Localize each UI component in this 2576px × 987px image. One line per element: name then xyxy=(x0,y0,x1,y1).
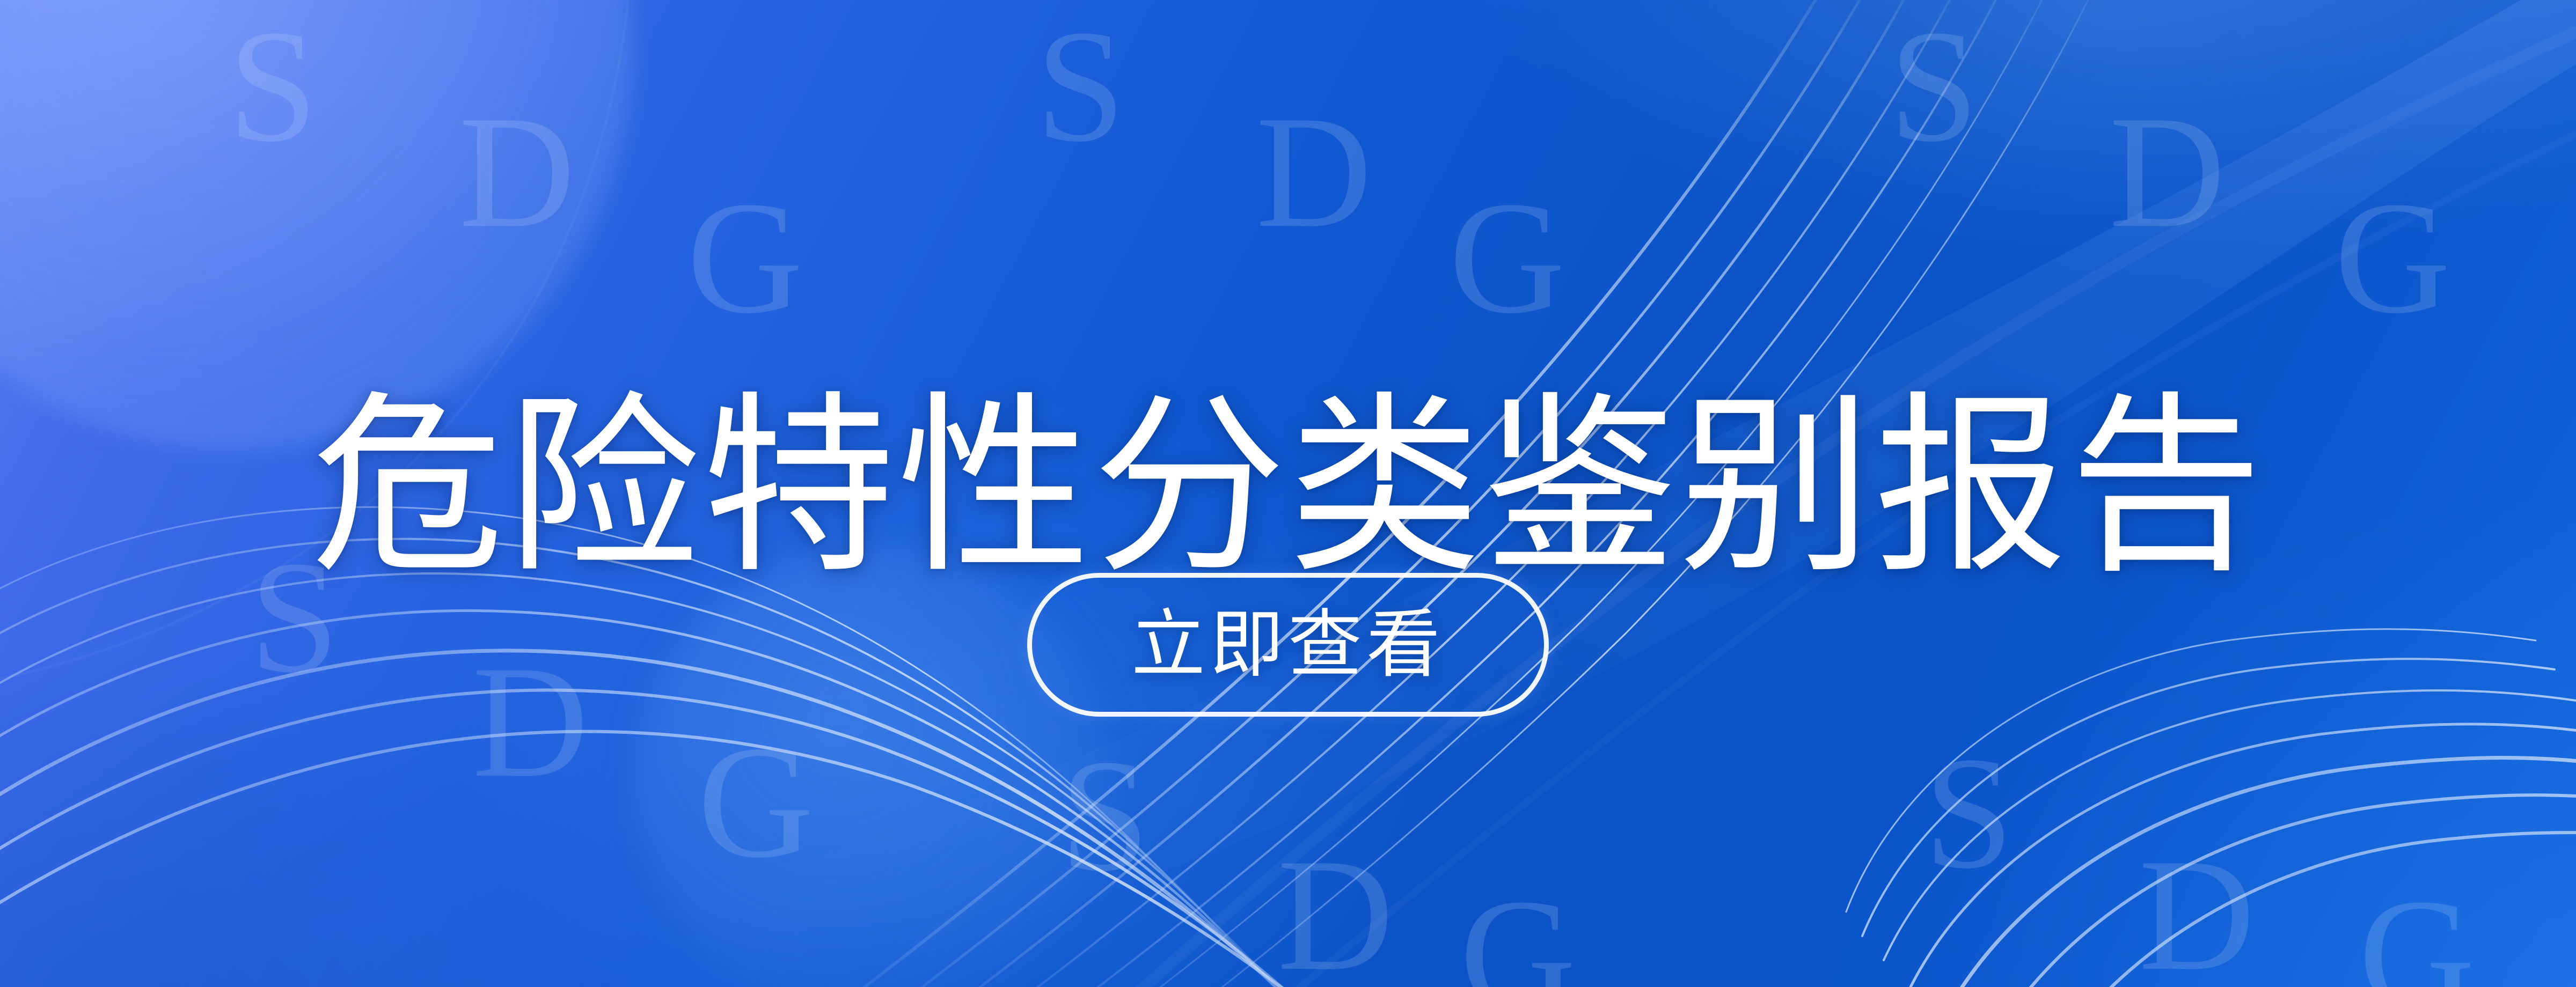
view-now-button[interactable]: 立即查看 xyxy=(1027,573,1549,717)
cta-row: 立即查看 xyxy=(0,573,2576,717)
banner-title: 危险特性分类鉴别报告 xyxy=(0,391,2576,584)
banner-content: 危险特性分类鉴别报告 立即查看 xyxy=(0,0,2576,987)
promo-banner: S D G S D G S D G S D G S D G S D G 危险特性… xyxy=(0,0,2576,987)
